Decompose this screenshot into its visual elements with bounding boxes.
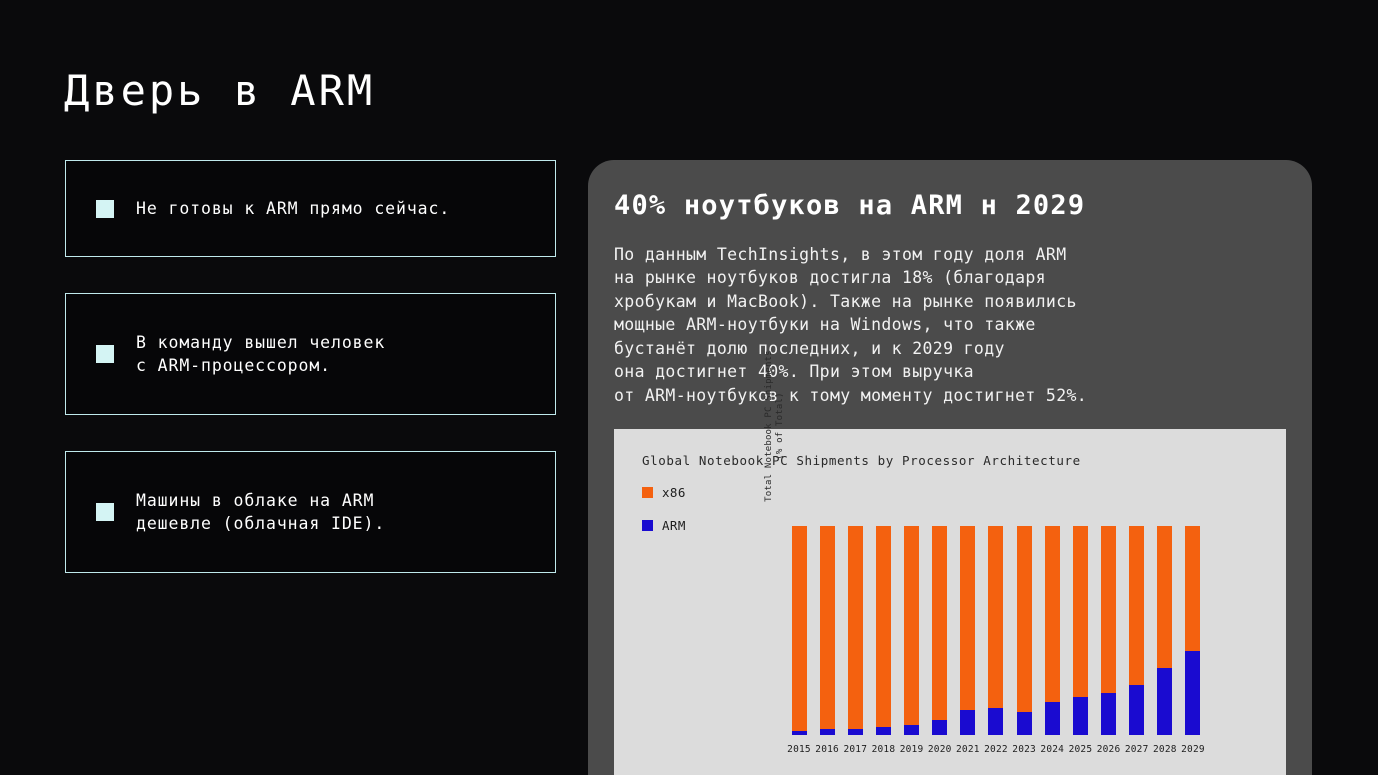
bar-column[interactable]: 2026 xyxy=(1096,455,1122,735)
panel-body-text: По данным TechInsights, в этом году доля… xyxy=(614,243,1284,407)
bullet-card-list: Не готовы к ARM прямо сейчас. В команду … xyxy=(65,160,556,609)
bar-segment-arm xyxy=(820,729,835,735)
x-axis-tick-label: 2021 xyxy=(956,744,980,755)
bar-segment-arm xyxy=(848,729,863,735)
x-axis-tick-label: 2025 xyxy=(1069,744,1093,755)
bar-segment-arm xyxy=(1017,712,1032,735)
bar-stack xyxy=(1045,526,1060,735)
bar-segment-x86 xyxy=(1185,526,1200,651)
bar-segment-arm xyxy=(1101,693,1116,735)
bar-segment-arm xyxy=(1129,685,1144,735)
x-axis-tick-label: 2015 xyxy=(787,744,811,755)
bullet-card-text: В команду вышел человек с ARM-процессоро… xyxy=(136,331,385,378)
bullet-square-icon xyxy=(96,345,114,363)
bar-stack xyxy=(1129,526,1144,735)
bar-stack xyxy=(1157,526,1172,735)
bar-segment-arm xyxy=(1157,668,1172,735)
bar-segment-arm xyxy=(1045,702,1060,735)
bar-segment-x86 xyxy=(792,526,807,731)
bar-segment-x86 xyxy=(1157,526,1172,668)
x-axis-tick-label: 2017 xyxy=(843,744,867,755)
bar-segment-x86 xyxy=(932,526,947,720)
bar-column[interactable]: 2018 xyxy=(870,455,896,735)
bar-segment-arm xyxy=(904,725,919,735)
bullet-card[interactable]: Не готовы к ARM прямо сейчас. xyxy=(65,160,556,257)
bar-segment-x86 xyxy=(1073,526,1088,697)
bullet-card[interactable]: В команду вышел человек с ARM-процессоро… xyxy=(65,293,556,415)
chart-card: Global Notebook PC Shipments by Processo… xyxy=(614,429,1286,775)
x-axis-tick-label: 2023 xyxy=(1012,744,1036,755)
bar-segment-arm xyxy=(932,720,947,735)
x-axis-tick-label: 2028 xyxy=(1153,744,1177,755)
bar-stack xyxy=(1073,526,1088,735)
bar-segment-x86 xyxy=(1129,526,1144,685)
bar-column[interactable]: 2021 xyxy=(955,455,981,735)
bar-segment-arm xyxy=(792,731,807,735)
legend-label: x86 xyxy=(662,485,686,500)
bar-stack xyxy=(932,526,947,735)
bar-stack xyxy=(1185,526,1200,735)
x-axis-tick-label: 2018 xyxy=(872,744,896,755)
bar-column[interactable]: 2019 xyxy=(899,455,925,735)
x-axis-tick-label: 2024 xyxy=(1040,744,1064,755)
panel-heading: 40% ноутбуков на ARM н 2029 xyxy=(614,190,1284,221)
x-axis-tick-label: 2016 xyxy=(815,744,839,755)
bar-column[interactable]: 2020 xyxy=(927,455,953,735)
bullet-square-icon xyxy=(96,200,114,218)
bullet-card[interactable]: Машины в облаке на ARM дешевле (облачная… xyxy=(65,451,556,573)
bar-segment-x86 xyxy=(820,526,835,729)
bar-stack xyxy=(1101,526,1116,735)
x-axis-tick-label: 2020 xyxy=(928,744,952,755)
chart-legend: x86ARM xyxy=(642,485,686,551)
bar-column[interactable]: 2024 xyxy=(1039,455,1065,735)
bar-stack xyxy=(904,526,919,735)
bar-stack xyxy=(792,526,807,735)
legend-label: ARM xyxy=(662,518,686,533)
bar-segment-arm xyxy=(1185,651,1200,735)
bar-segment-x86 xyxy=(1101,526,1116,693)
x-axis-tick-label: 2029 xyxy=(1181,744,1205,755)
bar-segment-x86 xyxy=(988,526,1003,708)
x-axis-tick-label: 2022 xyxy=(984,744,1008,755)
bar-segment-arm xyxy=(876,727,891,735)
bar-segment-x86 xyxy=(904,526,919,725)
bar-column[interactable]: 2027 xyxy=(1124,455,1150,735)
bar-segment-x86 xyxy=(960,526,975,710)
bar-column[interactable]: 2022 xyxy=(983,455,1009,735)
bar-column[interactable]: 2028 xyxy=(1152,455,1178,735)
legend-item-arm[interactable]: ARM xyxy=(642,518,686,533)
bar-stack xyxy=(848,526,863,735)
bar-segment-arm xyxy=(1073,697,1088,735)
bar-column[interactable]: 2016 xyxy=(814,455,840,735)
bullet-card-text: Машины в облаке на ARM дешевле (облачная… xyxy=(136,489,385,536)
bar-segment-x86 xyxy=(876,526,891,727)
bullet-square-icon xyxy=(96,503,114,521)
bar-column[interactable]: 2023 xyxy=(1011,455,1037,735)
legend-item-x86[interactable]: x86 xyxy=(642,485,686,500)
bar-stack xyxy=(960,526,975,735)
x-axis-tick-label: 2019 xyxy=(900,744,924,755)
bar-segment-x86 xyxy=(848,526,863,729)
bar-stack xyxy=(820,526,835,735)
x-axis-tick-label: 2026 xyxy=(1097,744,1121,755)
bar-column[interactable]: 2029 xyxy=(1180,455,1206,735)
legend-swatch-icon xyxy=(642,520,653,531)
info-panel: 40% ноутбуков на ARM н 2029 По данным Te… xyxy=(588,160,1312,775)
bar-stack xyxy=(988,526,1003,735)
bar-stack xyxy=(1017,526,1032,735)
page-title: Дверь в ARM xyxy=(64,66,375,115)
x-axis-tick-label: 2027 xyxy=(1125,744,1149,755)
bar-segment-arm xyxy=(988,708,1003,735)
bar-stack xyxy=(876,526,891,735)
legend-swatch-icon xyxy=(642,487,653,498)
bar-segment-x86 xyxy=(1017,526,1032,712)
bar-segment-arm xyxy=(960,710,975,735)
bar-column[interactable]: 2015 xyxy=(786,455,812,735)
bullet-card-text: Не готовы к ARM прямо сейчас. xyxy=(136,197,450,220)
bar-segment-x86 xyxy=(1045,526,1060,702)
bar-column[interactable]: 2017 xyxy=(842,455,868,735)
chart-plot-area: 2015201620172018201920202021202220232024… xyxy=(786,455,1206,735)
bar-column[interactable]: 2025 xyxy=(1067,455,1093,735)
